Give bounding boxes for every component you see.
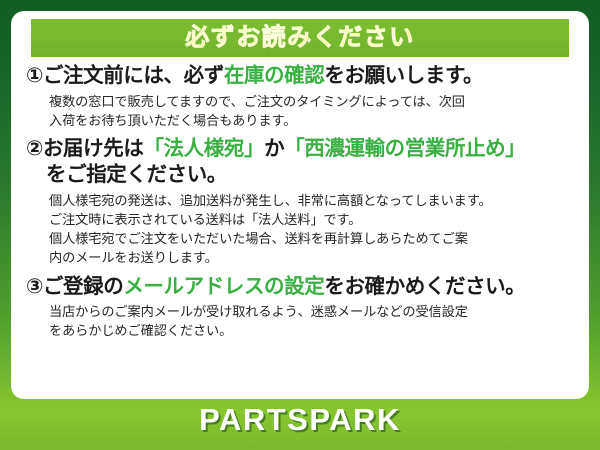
plain-text: ②お届け先は <box>26 137 143 160</box>
header-banner: 必ずお読みください <box>31 19 569 57</box>
highlight-text: メールアドレスの設定 <box>123 275 324 298</box>
brand-wordmark: PARTSPARK <box>199 404 401 435</box>
notice-item-2: ②お届け先は「法人様宛」か「西濃運輸の営業所止め」 をご指定ください。 個人様宅… <box>26 136 576 266</box>
highlight-text: 「法人様宛」 <box>143 137 264 160</box>
notice-list: ①ご注文前には、必ず在庫の確認をお願いします。 複数の窓口で販売してますので、ご… <box>20 57 580 340</box>
header-title: 必ずお読みください <box>185 26 415 50</box>
notice-item-1-body: 複数の窓口で販売してますので、ご注文のタイミングによっては、次回入荷をお待ち頂い… <box>26 89 576 130</box>
notice-item-1: ①ご注文前には、必ず在庫の確認をお願いします。 複数の窓口で販売してますので、ご… <box>26 63 576 130</box>
notice-item-1-heading: ①ご注文前には、必ず在庫の確認をお願いします。 <box>26 63 576 89</box>
body-line: 入荷をお待ち頂いただく場合もあります。 <box>49 111 576 130</box>
body-line: 当店からのご案内メールが受け取れるよう、迷惑メールなどの受信設定 <box>49 302 576 321</box>
body-line: をあらかじめご確認ください。 <box>49 321 576 340</box>
plain-text: をお確かめください。 <box>324 275 525 298</box>
notice-item-3: ③ご登録のメールアドレスの設定をお確かめください。 当店からのご案内メールが受け… <box>26 274 576 340</box>
plain-text: をお願いします。 <box>324 64 483 87</box>
body-line: 個人様宅宛の発送は、追加送料が発生し、非常に高額となってしまいます。 <box>49 191 576 210</box>
body-line: 個人様宅宛でご注文をいただいた場合、送料を再計算しあらためてご案 <box>49 229 576 248</box>
notice-item-3-heading: ③ご登録のメールアドレスの設定をお確かめください。 <box>26 274 576 300</box>
notice-item-2-body: 個人様宅宛の発送は、追加送料が発生し、非常に高額となってしまいます。ご注文時に表… <box>26 189 576 267</box>
body-line: 内のメールをお送りします。 <box>49 248 576 267</box>
plain-text: ①ご注文前には、必ず <box>26 64 224 87</box>
notice-item-2-heading: ②お届け先は「法人様宛」か「西濃運輸の営業所止め」 <box>26 136 576 162</box>
notice-banner: PARTSPARK 必ずお読みください ①ご注文前には、必ず在庫の確認をお願いし… <box>0 0 600 450</box>
plain-text: か <box>264 137 284 160</box>
highlight-text: 「西濃運輸の営業所止め」 <box>284 137 525 160</box>
notice-item-2-heading-continuation: をご指定ください。 <box>26 162 576 188</box>
body-line: 複数の窓口で販売してますので、ご注文のタイミングによっては、次回 <box>49 92 576 111</box>
body-line: ご注文時に表示されている送料は「法人送料」です。 <box>49 210 576 229</box>
plain-text: ③ご登録の <box>26 275 123 298</box>
highlight-text: 在庫の確認 <box>224 64 325 87</box>
notice-item-3-body: 当店からのご案内メールが受け取れるよう、迷惑メールなどの受信設定をあらかじめご確… <box>26 300 576 340</box>
notice-card: 必ずお読みください ①ご注文前には、必ず在庫の確認をお願いします。 複数の窓口で… <box>11 11 589 399</box>
